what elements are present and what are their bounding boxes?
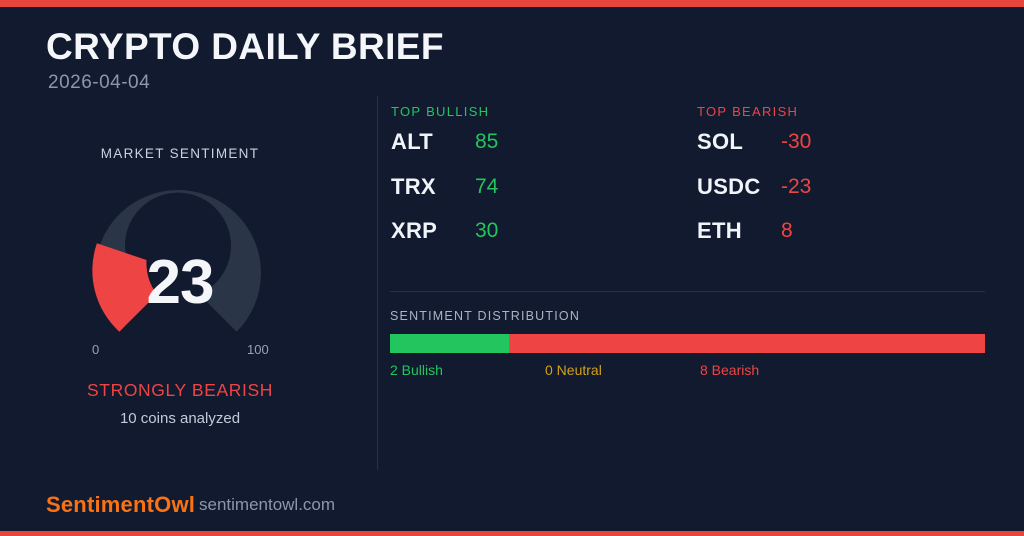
mover-symbol: XRP (391, 218, 437, 244)
mover-row: SOL -30 (697, 129, 997, 174)
distribution-segment-bearish (509, 334, 985, 353)
mover-symbol: SOL (697, 129, 743, 155)
mover-score: 74 (475, 175, 498, 199)
top-bullish-column: TOP BULLISH ALT 85 TRX 74 XRP 30 (391, 104, 691, 263)
gauge-title: MARKET SENTIMENT (0, 146, 360, 161)
top-accent-stripe (0, 0, 1024, 7)
market-sentiment-gauge-panel: MARKET SENTIMENT 23 0 100 STRONGLY BEARI… (0, 140, 360, 440)
sentiment-verdict-label: STRONGLY BEARISH (0, 380, 360, 401)
mover-score: -23 (781, 175, 811, 199)
coins-analyzed-label: 10 coins analyzed (0, 410, 360, 427)
mover-symbol: USDC (697, 174, 761, 200)
mover-row: ETH 8 (697, 218, 997, 263)
mover-score: 30 (475, 219, 498, 243)
gauge-min-label: 0 (92, 342, 99, 357)
sentiment-distribution-bar (390, 334, 985, 353)
bottom-accent-stripe (0, 531, 1024, 536)
report-date: 2026-04-04 (48, 72, 150, 94)
mover-symbol: TRX (391, 174, 436, 200)
distribution-segment-bullish (390, 334, 509, 353)
distribution-legend: 2 Bullish 0 Neutral 8 Bearish (390, 362, 985, 380)
top-bearish-column: TOP BEARISH SOL -30 USDC -23 ETH 8 (697, 104, 997, 263)
sentiment-distribution-panel: SENTIMENT DISTRIBUTION 2 Bullish 0 Neutr… (390, 309, 985, 380)
brand-url: sentimentowl.com (199, 495, 335, 515)
vertical-divider (377, 96, 378, 470)
mover-symbol: ALT (391, 129, 433, 155)
mover-row: XRP 30 (391, 218, 691, 263)
mover-row: ALT 85 (391, 129, 691, 174)
top-bearish-heading: TOP BEARISH (697, 104, 997, 119)
mover-row: TRX 74 (391, 174, 691, 219)
crypto-daily-brief-card: CRYPTO DAILY BRIEF 2026-04-04 MARKET SEN… (0, 0, 1024, 536)
sentiment-distribution-title: SENTIMENT DISTRIBUTION (390, 309, 985, 323)
legend-item-bullish: 2 Bullish (390, 362, 443, 378)
gauge-max-label: 100 (247, 342, 269, 357)
page-title: CRYPTO DAILY BRIEF (46, 26, 444, 68)
legend-item-bearish: 8 Bearish (700, 362, 759, 378)
legend-item-neutral: 0 Neutral (545, 362, 602, 378)
brand-name: SentimentOwl (46, 492, 195, 518)
mover-symbol: ETH (697, 218, 742, 244)
mover-row: USDC -23 (697, 174, 997, 219)
gauge-value: 23 (0, 247, 360, 318)
top-bullish-heading: TOP BULLISH (391, 104, 691, 119)
mover-score: 8 (781, 219, 793, 243)
mover-score: -30 (781, 130, 811, 154)
horizontal-divider (390, 291, 985, 292)
mover-score: 85 (475, 130, 498, 154)
